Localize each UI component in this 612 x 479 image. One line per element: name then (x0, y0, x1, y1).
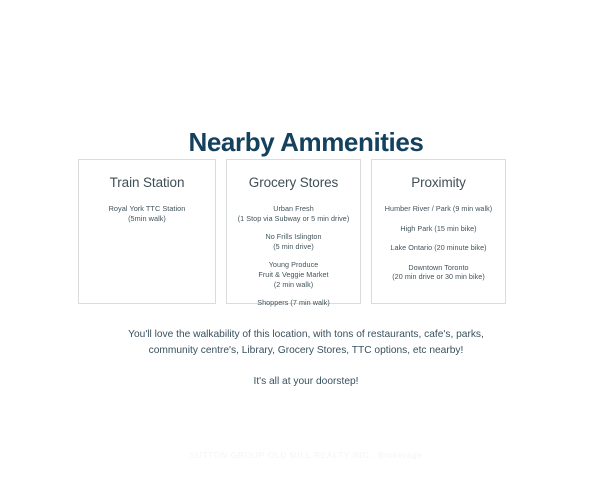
footer-paragraph-line: You'll love the walkability of this loca… (0, 327, 612, 343)
amenity-entry: Shoppers (7 min walk) (233, 298, 354, 308)
amenity-entry: Downtown Toronto (20 min drive or 30 min… (378, 263, 499, 282)
amenity-entry-line: Downtown Toronto (378, 263, 499, 273)
card-heading-grocery-stores: Grocery Stores (249, 174, 338, 192)
amenity-entry-line: (1 Stop via Subway or 5 min drive) (233, 214, 354, 224)
brokerage-watermark: SUTTON GROUP OLD MILL REALTY INC., Broke… (0, 450, 612, 460)
amenity-entry-line: (2 min walk) (233, 280, 354, 290)
amenity-entry-line: Shoppers (7 min walk) (233, 298, 354, 308)
amenity-entry: No Frills Islington (5 min drive) (233, 232, 354, 251)
amenity-entry-line: Urban Fresh (233, 204, 354, 214)
amenities-card-group: Train Station Royal York TTC Station (5m… (78, 159, 506, 304)
card-heading-proximity: Proximity (411, 174, 466, 192)
amenity-entry-line: (5min walk) (85, 214, 209, 224)
footer-paragraph: You'll love the walkability of this loca… (0, 327, 612, 358)
amenity-entry-line: Humber River / Park (9 min walk) (378, 204, 499, 214)
amenity-entry: High Park (15 min bike) (378, 224, 499, 234)
card-entries-grocery-stores: Urban Fresh (1 Stop via Subway or 5 min … (233, 204, 354, 308)
card-grocery-stores: Grocery Stores Urban Fresh (1 Stop via S… (226, 159, 361, 304)
footer-closing-line: It's all at your doorstep! (0, 374, 612, 390)
amenity-entry-line: High Park (15 min bike) (378, 224, 499, 234)
amenity-entry: Humber River / Park (9 min walk) (378, 204, 499, 214)
amenity-entry-line: (20 min drive or 30 min bike) (378, 272, 499, 282)
amenity-entry-line: Fruit & Veggie Market (233, 270, 354, 280)
card-entries-train-station: Royal York TTC Station (5min walk) (85, 204, 209, 223)
amenity-entry: Royal York TTC Station (5min walk) (85, 204, 209, 223)
amenity-entry-line: (5 min drive) (233, 242, 354, 252)
footer-text-block: You'll love the walkability of this loca… (0, 327, 612, 390)
card-entries-proximity: Humber River / Park (9 min walk) High Pa… (378, 204, 499, 292)
footer-paragraph-line: community centre's, Library, Grocery Sto… (0, 343, 612, 359)
amenity-entry: Urban Fresh (1 Stop via Subway or 5 min … (233, 204, 354, 223)
amenity-entry-line: Young Produce (233, 260, 354, 270)
amenity-entry-line: Royal York TTC Station (85, 204, 209, 214)
page-title: Nearby Ammenities (0, 125, 612, 159)
amenity-entry: Young Produce Fruit & Veggie Market (2 m… (233, 260, 354, 289)
slide-page: Nearby Ammenities Train Station Royal Yo… (0, 0, 612, 479)
card-train-station: Train Station Royal York TTC Station (5m… (78, 159, 216, 304)
amenity-entry-line: No Frills Islington (233, 232, 354, 242)
card-heading-train-station: Train Station (110, 174, 185, 192)
amenity-entry-line: Lake Ontario (20 minute bike) (378, 243, 499, 253)
card-proximity: Proximity Humber River / Park (9 min wal… (371, 159, 506, 304)
amenity-entry: Lake Ontario (20 minute bike) (378, 243, 499, 253)
